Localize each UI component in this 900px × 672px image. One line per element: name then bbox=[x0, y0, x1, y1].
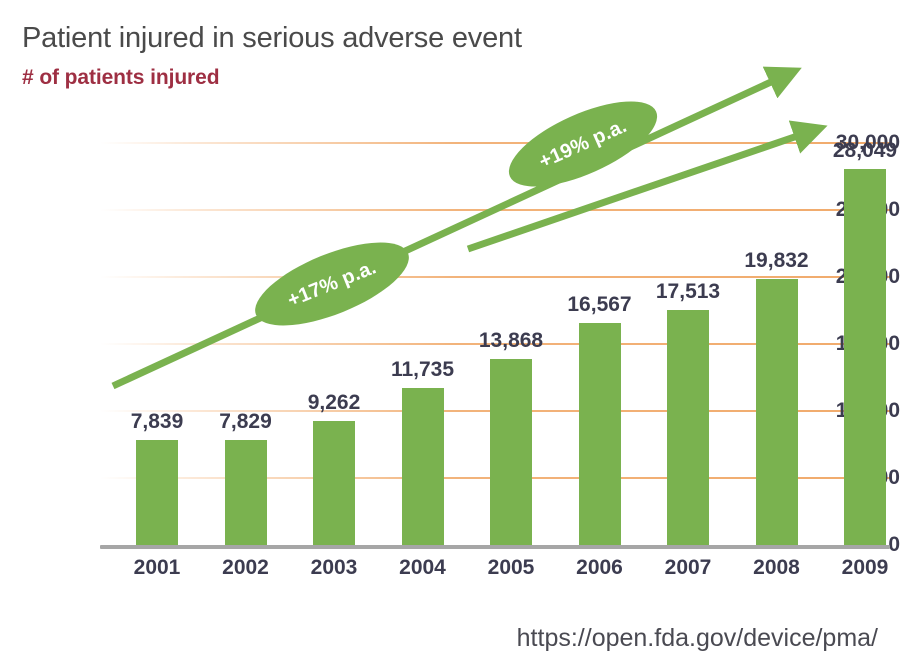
bar bbox=[667, 310, 709, 545]
bar bbox=[402, 388, 444, 545]
bar-value-label: 9,262 bbox=[274, 391, 394, 415]
bar bbox=[313, 421, 355, 545]
x-axis-tick-label: 2009 bbox=[805, 556, 900, 580]
chart-slide: Patient injured in serious adverse event… bbox=[0, 0, 900, 672]
gridline bbox=[100, 142, 890, 144]
bar bbox=[490, 359, 532, 545]
growth-callout-17-label: +17% p.a. bbox=[284, 256, 379, 312]
bar-value-label: 13,868 bbox=[451, 329, 571, 353]
bar-value-label: 11,735 bbox=[363, 358, 483, 382]
bar bbox=[844, 169, 886, 545]
plot-area: 05,00010,00015,00020,00025,00030,000 7,8… bbox=[0, 0, 900, 600]
gridline bbox=[100, 209, 890, 211]
x-axis-baseline bbox=[100, 545, 890, 549]
bar bbox=[136, 440, 178, 545]
source-url-text: https://open.fda.gov/device/pma/ bbox=[517, 624, 878, 653]
growth-callout-19: +19% p.a. bbox=[498, 84, 669, 204]
bar bbox=[756, 279, 798, 545]
bar-value-label: 17,513 bbox=[628, 280, 748, 304]
bar-value-label: 19,832 bbox=[717, 249, 837, 273]
growth-callout-19-label: +19% p.a. bbox=[536, 114, 631, 173]
growth-callout-17: +17% p.a. bbox=[245, 225, 420, 342]
bar-value-label: 28,049 bbox=[805, 139, 900, 163]
gridline bbox=[100, 276, 890, 278]
bar bbox=[579, 323, 621, 545]
bar bbox=[225, 440, 267, 545]
